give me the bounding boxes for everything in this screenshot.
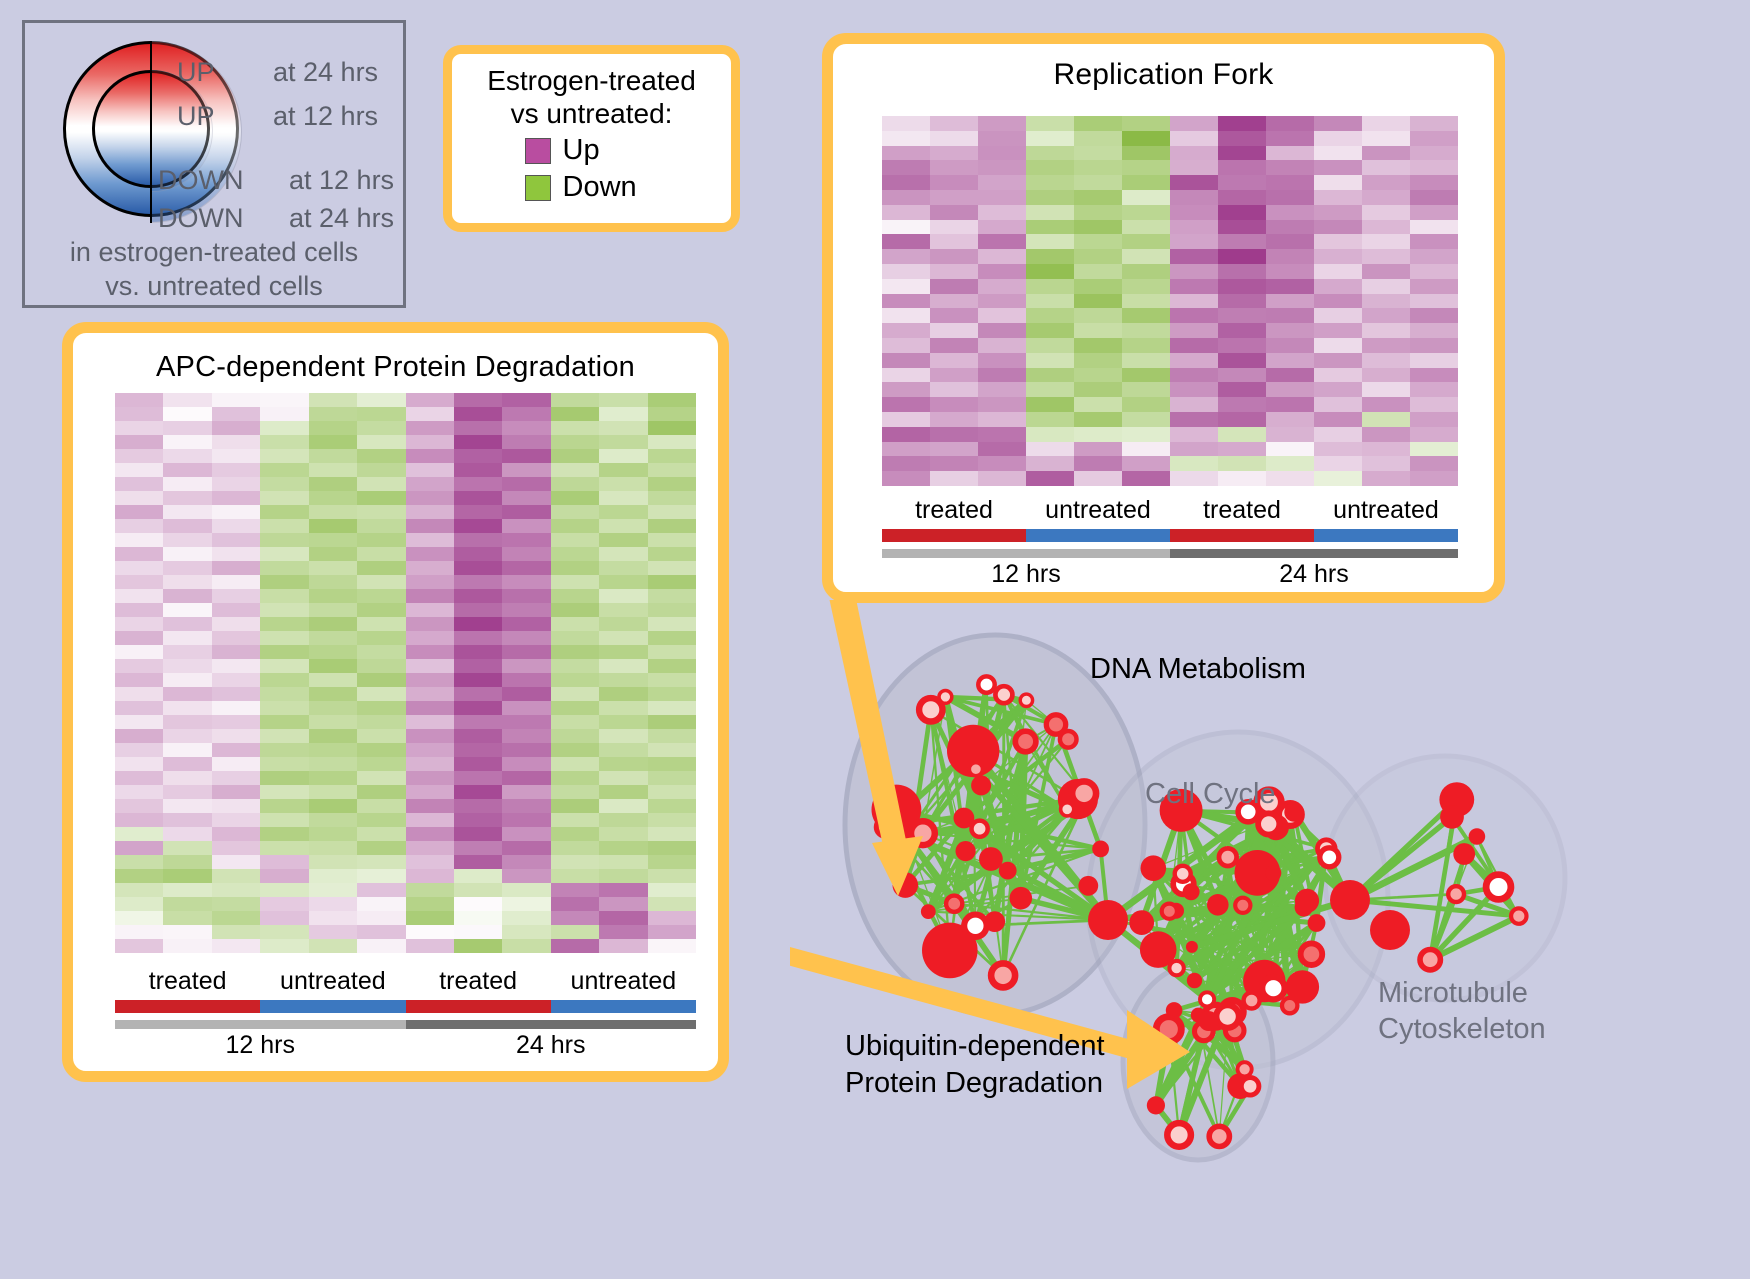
network-edge <box>907 835 1003 975</box>
network-node[interactable] <box>1169 961 1183 975</box>
network-node[interactable] <box>1511 908 1526 923</box>
network-edge <box>1195 827 1277 980</box>
network-edge <box>1169 907 1304 911</box>
network-node[interactable] <box>1010 887 1033 910</box>
network-node[interactable] <box>1263 814 1289 840</box>
heat-cell <box>648 799 696 813</box>
network-node[interactable] <box>1072 781 1096 805</box>
network-node[interactable] <box>1448 886 1464 902</box>
heat-cell <box>1074 397 1122 412</box>
heat-cell <box>551 561 599 575</box>
network-node[interactable] <box>1088 900 1128 940</box>
heat-cell <box>648 659 696 673</box>
network-node[interactable] <box>1129 910 1154 935</box>
network-node[interactable] <box>1221 1000 1244 1023</box>
heat-cell <box>115 505 163 519</box>
heat-cell <box>1314 323 1362 338</box>
heat-cell <box>1362 338 1410 353</box>
heat-cell <box>1218 205 1266 220</box>
network-edge <box>1269 824 1303 987</box>
network-edge <box>1184 827 1277 884</box>
heat-cell <box>212 407 260 421</box>
network-node[interactable] <box>947 725 999 777</box>
network-edge <box>1205 802 1269 998</box>
heat-cell <box>648 477 696 491</box>
network-edge <box>1158 911 1176 950</box>
network-edge <box>923 829 980 834</box>
network-node[interactable] <box>964 915 986 937</box>
heat-cell <box>1314 160 1362 175</box>
network-node[interactable] <box>1199 992 1212 1005</box>
network-edge <box>1192 827 1276 947</box>
heat-cell <box>406 939 454 953</box>
network-node[interactable] <box>1156 1017 1181 1042</box>
heat-cell <box>599 813 647 827</box>
network-edge <box>991 859 1108 920</box>
network-node[interactable] <box>1186 941 1198 953</box>
condition-labels: treateduntreatedtreateduntreated <box>882 496 1458 525</box>
network-node[interactable] <box>1078 876 1098 896</box>
network-node[interactable] <box>1147 1096 1165 1114</box>
heat-cell <box>357 785 405 799</box>
network-edge <box>907 700 1026 835</box>
network-edge <box>1142 911 1170 922</box>
heat-cell <box>882 234 930 249</box>
heat-cell <box>1314 427 1362 442</box>
network-edge <box>1169 1029 1220 1136</box>
network-node[interactable] <box>978 676 994 692</box>
network-node[interactable] <box>922 923 978 979</box>
network-edge <box>1350 800 1457 900</box>
heat-cell <box>309 785 357 799</box>
heat-cell <box>212 687 260 701</box>
condition-label: untreated <box>1026 496 1170 525</box>
network-node[interactable] <box>1046 715 1065 734</box>
network-node[interactable] <box>1015 731 1036 752</box>
network-node[interactable] <box>946 896 962 912</box>
heat-cell <box>502 505 550 519</box>
network-edge <box>1204 1009 1229 1031</box>
network-node[interactable] <box>1295 889 1319 913</box>
heat-cell <box>115 547 163 561</box>
network-node[interactable] <box>1469 828 1486 845</box>
heat-cell <box>260 435 308 449</box>
network-edge <box>1142 812 1294 923</box>
network-node[interactable] <box>1072 790 1096 814</box>
heat-cell <box>454 393 502 407</box>
network-edge <box>1198 1015 1240 1086</box>
heat-cell <box>1074 234 1122 249</box>
network-edge <box>1350 817 1452 900</box>
network-node[interactable] <box>1308 914 1326 932</box>
network-edge <box>1273 873 1289 1006</box>
network-edge <box>928 849 1100 912</box>
heat-cell <box>309 407 357 421</box>
heat-cell <box>1410 294 1458 309</box>
heat-cell <box>1314 131 1362 146</box>
heat-cell <box>1026 234 1074 249</box>
heat-cell <box>502 687 550 701</box>
network-edge <box>1153 868 1232 1012</box>
network-edge <box>1269 812 1294 824</box>
heat-cell <box>1314 368 1362 383</box>
network-edge <box>1158 950 1232 1012</box>
heat-cell <box>163 603 211 617</box>
heat-cell <box>115 659 163 673</box>
network-edge <box>1108 802 1269 920</box>
network-node[interactable] <box>1330 880 1370 920</box>
heat-cell <box>260 491 308 505</box>
network-node[interactable] <box>911 821 935 845</box>
heat-cell <box>648 715 696 729</box>
network-node[interactable] <box>1439 782 1474 817</box>
network-node[interactable] <box>1453 843 1475 865</box>
heat-cell <box>115 729 163 743</box>
network-node[interactable] <box>1167 1123 1191 1147</box>
network-edge <box>1210 1000 1216 1016</box>
network-edge <box>1210 812 1294 1000</box>
heat-cell <box>551 575 599 589</box>
network-node[interactable] <box>1320 848 1339 867</box>
network-node[interactable] <box>995 686 1012 703</box>
heat-cell <box>309 743 357 757</box>
network-node[interactable] <box>1243 960 1285 1002</box>
network-node[interactable] <box>1301 943 1323 965</box>
heat-cell <box>1218 323 1266 338</box>
heat-cell <box>115 645 163 659</box>
heat-cell <box>599 855 647 869</box>
heat-cell <box>599 869 647 883</box>
heat-cell <box>260 575 308 589</box>
network-node[interactable] <box>1092 841 1109 858</box>
heat-cell <box>1266 146 1314 161</box>
network-edge <box>1179 1000 1210 1135</box>
heat-cell <box>1026 175 1074 190</box>
heat-cell <box>1410 116 1458 131</box>
heat-cell <box>882 175 930 190</box>
network-node[interactable] <box>1173 874 1194 895</box>
heat-cell <box>309 659 357 673</box>
network-node[interactable] <box>1265 865 1281 881</box>
heat-cell <box>648 729 696 743</box>
heat-cell <box>406 771 454 785</box>
heat-cell <box>551 645 599 659</box>
heat-cell <box>454 869 502 883</box>
network-node[interactable] <box>999 862 1017 880</box>
heat-cell <box>1074 382 1122 397</box>
heat-cell <box>309 491 357 505</box>
network-node[interactable] <box>1219 848 1237 866</box>
network-node[interactable] <box>969 763 982 776</box>
heat-cell <box>454 897 502 911</box>
heat-cell <box>260 911 308 925</box>
heat-cell <box>115 589 163 603</box>
network-node[interactable] <box>1060 731 1077 748</box>
heat-cell <box>454 547 502 561</box>
network-edge <box>1228 1017 1241 1087</box>
heat-cell <box>454 449 502 463</box>
arrow-ubiquitin-head <box>1127 1010 1190 1089</box>
network-edge <box>1177 810 1182 968</box>
condition-axis-replication-fork: treateduntreatedtreateduntreated 12 hrs2… <box>882 496 1458 589</box>
network-node[interactable] <box>1216 1005 1239 1028</box>
heat-cell <box>551 659 599 673</box>
network-edge <box>1158 950 1194 981</box>
heat-cell <box>648 561 696 575</box>
network-edge <box>1252 815 1291 1001</box>
heat-cell <box>163 925 211 939</box>
network-node[interactable] <box>1241 1078 1259 1096</box>
network-edge <box>1464 854 1498 887</box>
heat-cell <box>309 477 357 491</box>
heat-cell <box>115 617 163 631</box>
network-node[interactable] <box>1168 903 1184 919</box>
heat-cell <box>115 785 163 799</box>
heat-cell <box>502 533 550 547</box>
heat-cell <box>163 393 211 407</box>
heat-cell <box>1266 442 1314 457</box>
heat-cell <box>599 757 647 771</box>
network-edge <box>1169 911 1176 912</box>
network-node[interactable] <box>1295 898 1313 916</box>
network-node[interactable] <box>1235 850 1281 896</box>
heat-cell <box>163 757 211 771</box>
heat-cell <box>551 939 599 953</box>
network-edge <box>1264 812 1294 981</box>
heat-cell <box>357 715 405 729</box>
heat-cell <box>357 631 405 645</box>
network-edge <box>1026 725 1056 742</box>
heat-cell <box>1026 397 1074 412</box>
heat-cell <box>115 939 163 953</box>
network-edge <box>923 695 1004 834</box>
heat-cell <box>1266 279 1314 294</box>
network-node[interactable] <box>1166 1002 1183 1019</box>
network-node[interactable] <box>1282 998 1297 1013</box>
network-edge <box>1169 812 1248 911</box>
network-edge <box>1026 742 1068 810</box>
heat-cell <box>212 659 260 673</box>
network-node[interactable] <box>919 698 942 721</box>
network-node[interactable] <box>1440 805 1464 829</box>
heat-cell <box>1026 249 1074 264</box>
network-node[interactable] <box>1244 993 1260 1009</box>
heat-cell <box>1026 323 1074 338</box>
network-node[interactable] <box>1061 803 1074 816</box>
heat-cell <box>309 729 357 743</box>
heat-cell <box>454 505 502 519</box>
network-node[interactable] <box>972 821 988 837</box>
network-node[interactable] <box>1199 1011 1219 1031</box>
network-edge <box>1273 873 1304 907</box>
network-edge <box>1205 901 1307 998</box>
heat-cell <box>115 435 163 449</box>
heat-cell <box>978 471 1026 486</box>
network-edge <box>1183 874 1274 988</box>
heat-cell <box>648 519 696 533</box>
network-node[interactable] <box>1227 1073 1253 1099</box>
network-node[interactable] <box>1209 1126 1229 1146</box>
network-edge <box>1176 812 1294 911</box>
heat-cell <box>1026 220 1074 235</box>
heat-cell <box>115 855 163 869</box>
network-node[interactable] <box>1200 992 1214 1006</box>
heat-cell <box>1362 116 1410 131</box>
heat-cell <box>260 533 308 547</box>
network-node[interactable] <box>1058 779 1098 819</box>
heat-cell <box>1170 146 1218 161</box>
network-node[interactable] <box>1141 855 1167 881</box>
network-node[interactable] <box>1162 904 1177 919</box>
network-edge <box>1477 837 1499 888</box>
heat-cell <box>454 771 502 785</box>
network-edge <box>975 898 1020 926</box>
heat-cell <box>1122 234 1170 249</box>
heat-cell <box>1314 382 1362 397</box>
network-node[interactable] <box>1195 1022 1214 1041</box>
network-edge <box>1204 1000 1210 1031</box>
network-node[interactable] <box>1191 1008 1206 1023</box>
network-node[interactable] <box>984 911 1005 932</box>
heat-cell <box>1026 131 1074 146</box>
network-node[interactable] <box>954 808 975 829</box>
network-node[interactable] <box>1318 840 1336 858</box>
heat-cell <box>1266 264 1314 279</box>
heat-cell <box>1218 294 1266 309</box>
heat-cell <box>1362 234 1410 249</box>
network-node[interactable] <box>1175 866 1191 882</box>
network-node[interactable] <box>991 963 1015 987</box>
heat-cell <box>502 799 550 813</box>
network-edge <box>1192 857 1329 947</box>
network-edge <box>1056 725 1101 849</box>
network-node[interactable] <box>921 904 936 919</box>
network-node[interactable] <box>1420 950 1440 970</box>
heat-cell <box>357 421 405 435</box>
heat-cell <box>599 687 647 701</box>
network-node[interactable] <box>956 841 976 861</box>
heat-cell <box>930 412 978 427</box>
network-edge <box>1078 793 1084 799</box>
network-edge <box>1158 827 1276 949</box>
network-node[interactable] <box>1222 1003 1235 1016</box>
heat-cell <box>1074 160 1122 175</box>
heat-cell <box>599 883 647 897</box>
network-node[interactable] <box>872 785 922 835</box>
network-edge <box>1273 987 1302 988</box>
heat-cell <box>357 799 405 813</box>
heat-cell <box>1122 264 1170 279</box>
network-edge <box>1456 854 1464 894</box>
network-node[interactable] <box>1020 694 1032 706</box>
heat-cell <box>212 463 260 477</box>
heat-cell <box>212 533 260 547</box>
network-node[interactable] <box>1486 875 1511 900</box>
heat-cell <box>357 729 405 743</box>
heat-cell <box>454 519 502 533</box>
network-edge <box>923 833 966 851</box>
network-edge <box>1243 905 1312 954</box>
network-node[interactable] <box>1225 1021 1244 1040</box>
network-edge <box>1248 812 1273 873</box>
network-node[interactable] <box>1370 910 1410 950</box>
network-edge <box>1177 968 1265 981</box>
network-node[interactable] <box>1183 883 1200 900</box>
heat-cell <box>1362 175 1410 190</box>
network-node[interactable] <box>939 691 952 704</box>
heat-cell <box>1218 160 1266 175</box>
network-node[interactable] <box>979 847 1003 871</box>
heat-cell <box>309 449 357 463</box>
network-node[interactable] <box>876 818 894 836</box>
heat-cell <box>1410 205 1458 220</box>
network-node[interactable] <box>897 825 918 846</box>
network-node[interactable] <box>1258 813 1279 834</box>
network-edge <box>1108 920 1205 998</box>
network-edge <box>1183 849 1327 874</box>
network-edge <box>1430 916 1519 960</box>
heat-cell <box>551 911 599 925</box>
timepoint-color-bar <box>882 549 1458 558</box>
network-edge <box>1108 911 1176 920</box>
network-edge <box>1174 1010 1235 1030</box>
heat-cell <box>406 449 454 463</box>
heat-cell <box>115 673 163 687</box>
heat-cell <box>309 561 357 575</box>
heat-cell <box>648 939 696 953</box>
heat-cell <box>551 449 599 463</box>
network-edge <box>928 785 981 911</box>
heat-cell <box>1218 249 1266 264</box>
cluster-microtubule <box>1325 756 1565 1000</box>
heat-cell <box>930 471 978 486</box>
heat-cell <box>648 841 696 855</box>
heat-cell <box>163 631 211 645</box>
network-node[interactable] <box>1284 803 1303 822</box>
network-node[interactable] <box>1262 977 1284 999</box>
heat-cell <box>1362 220 1410 235</box>
network-edge <box>1153 868 1182 874</box>
heatmap-apc <box>115 393 696 953</box>
network-node[interactable] <box>1187 973 1202 988</box>
network-node[interactable] <box>1207 894 1229 916</box>
heat-cell <box>1266 116 1314 131</box>
network-node[interactable] <box>1279 803 1302 826</box>
heat-cell <box>551 463 599 477</box>
network-node[interactable] <box>1238 1062 1252 1076</box>
network-edge <box>1177 873 1258 968</box>
heat-cell <box>930 294 978 309</box>
heat-cell <box>260 715 308 729</box>
heat-cell <box>357 575 405 589</box>
network-node[interactable] <box>1235 898 1250 913</box>
heat-cell <box>930 131 978 146</box>
heat-cell <box>930 264 978 279</box>
heat-cell <box>1026 353 1074 368</box>
network-node[interactable] <box>1286 970 1319 1003</box>
heat-cell <box>1410 220 1458 235</box>
network-node[interactable] <box>893 872 919 898</box>
heat-cell <box>357 813 405 827</box>
heat-cell <box>1074 456 1122 471</box>
heat-cell <box>115 715 163 729</box>
network-node[interactable] <box>1140 931 1177 968</box>
heat-cell <box>978 234 1026 249</box>
heat-cell <box>1122 220 1170 235</box>
network-node[interactable] <box>1204 1005 1227 1028</box>
heat-cell <box>1362 442 1410 457</box>
network-node[interactable] <box>971 775 991 795</box>
